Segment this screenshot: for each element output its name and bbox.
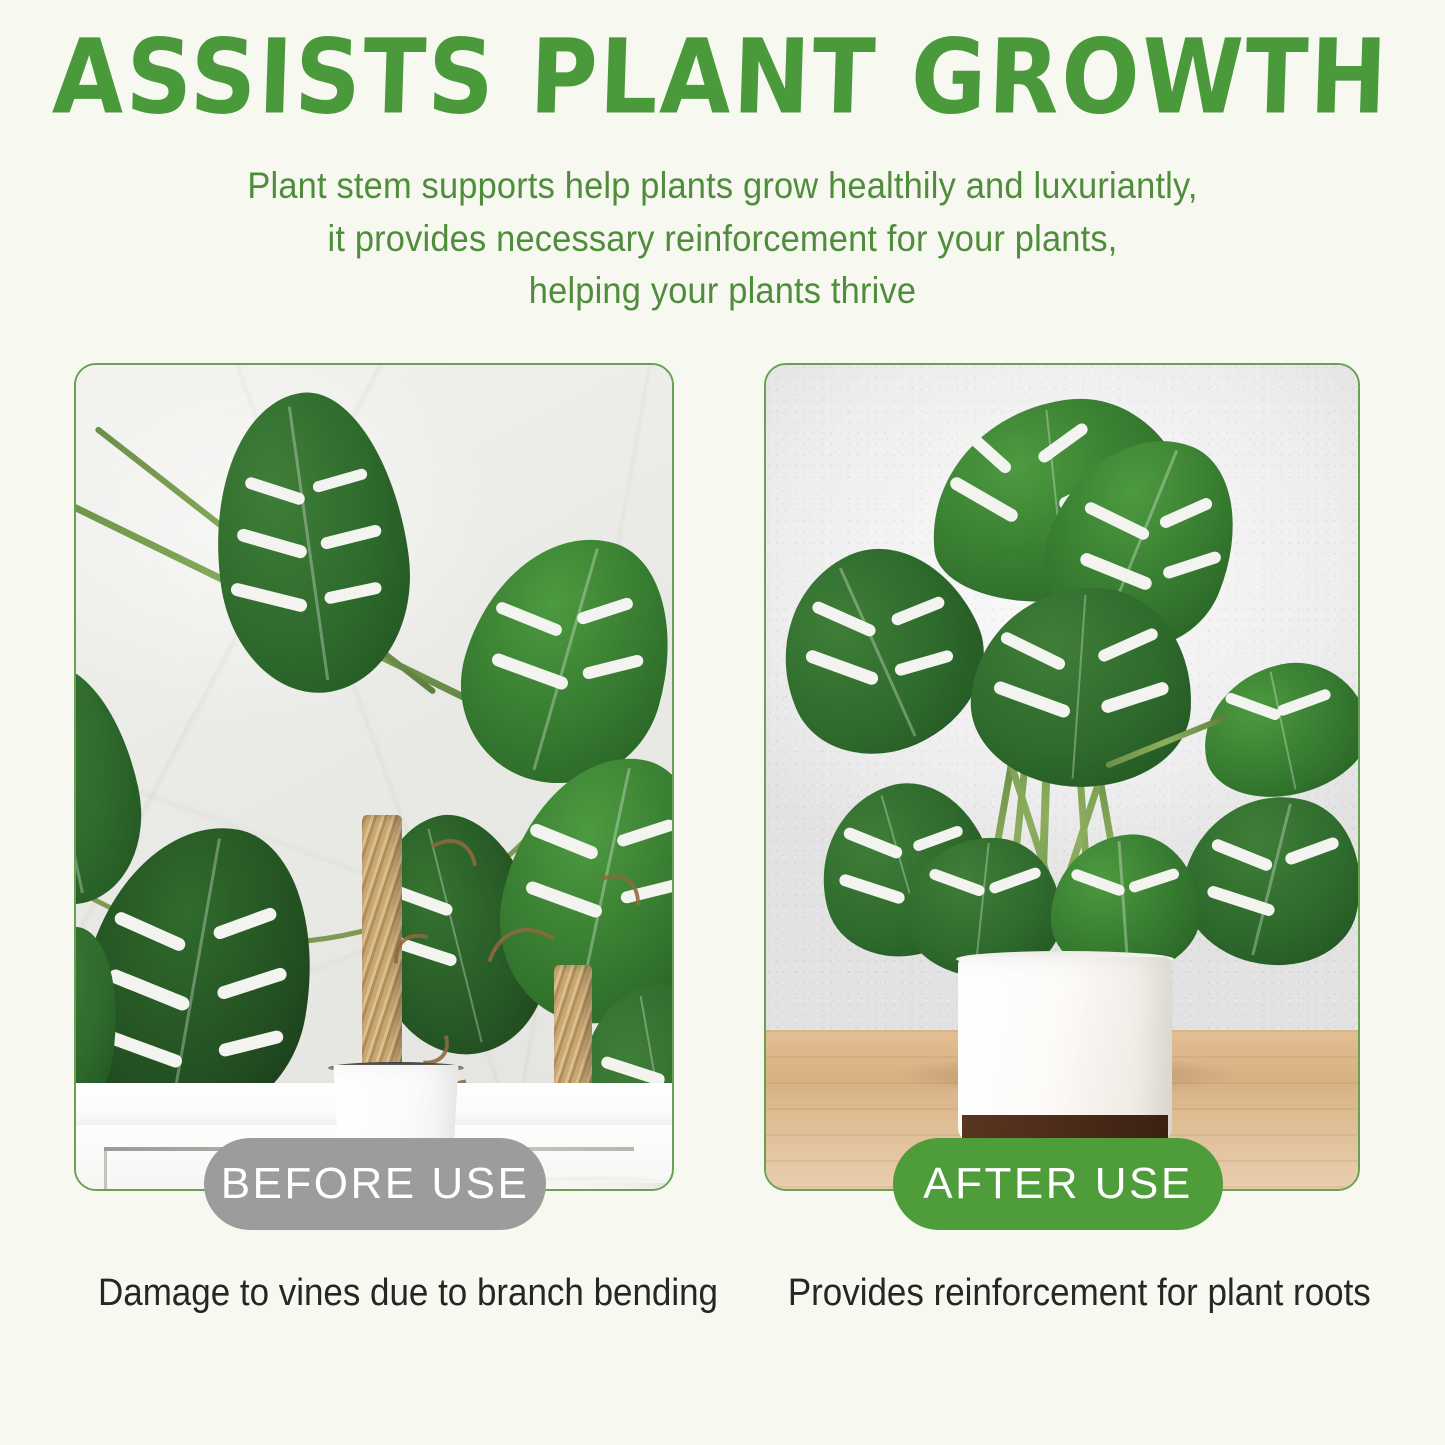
badge-before-use: BEFORE USE [204, 1138, 546, 1230]
after-photo [766, 365, 1358, 1189]
subtitle-block: Plant stem supports help plants grow hea… [51, 160, 1395, 318]
caption-after: Provides reinforcement for plant roots [788, 1272, 1336, 1315]
before-photo [76, 365, 672, 1189]
caption-before: Damage to vines due to branch bending [98, 1272, 650, 1315]
drawer-edge [104, 1151, 107, 1189]
before-photo-card [74, 363, 674, 1191]
badge-after-use: AFTER USE [893, 1138, 1223, 1230]
subtitle-line-3: helping your plants thrive [51, 265, 1395, 318]
subtitle-line-1: Plant stem supports help plants grow hea… [51, 160, 1395, 213]
after-photo-card [764, 363, 1360, 1191]
subtitle-line-2: it provides necessary reinforcement for … [51, 213, 1395, 266]
page-title: ASSISTS PLANT GROWTH [0, 24, 1445, 132]
